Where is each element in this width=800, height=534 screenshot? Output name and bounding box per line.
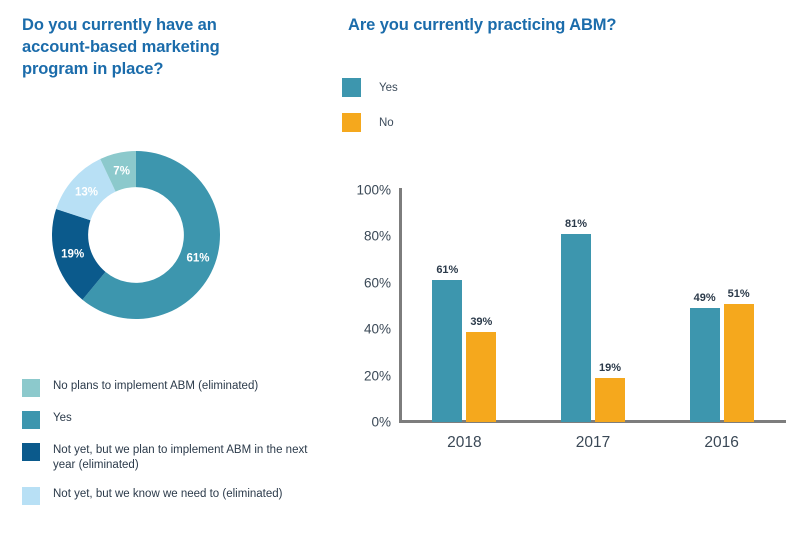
bar-chart-panel: Are you currently practicing ABM? Yes No…: [330, 0, 800, 534]
legend-item-label: Not yet, but we know we need to (elimina…: [53, 486, 282, 502]
legend-item-plan-next-year[interactable]: Not yet, but we plan to implement ABM in…: [22, 442, 322, 473]
y-axis-tick-label: 20%: [364, 368, 391, 383]
donut-chart-svg: 61%19%13%7%: [52, 151, 220, 319]
legend-item-label: No: [379, 117, 394, 129]
bar-value-label: 19%: [599, 362, 621, 374]
bar-value-label: 61%: [436, 264, 458, 276]
legend-item-yes[interactable]: Yes: [342, 78, 398, 97]
bar-value-label: 49%: [694, 292, 716, 304]
bar-yes[interactable]: 49%: [690, 308, 720, 422]
bar-group: 49%51%: [657, 190, 786, 422]
legend-item-label: Yes: [379, 82, 398, 94]
legend-item-label: Not yet, but we plan to implement ABM in…: [53, 442, 322, 473]
legend-swatch-icon: [22, 487, 40, 505]
y-axis-tick-label: 40%: [364, 322, 391, 337]
bar-no[interactable]: 39%: [466, 332, 496, 422]
bar-value-label: 51%: [728, 288, 750, 300]
donut-chart: 61%19%13%7%: [52, 151, 220, 319]
y-axis-tick-label: 60%: [364, 275, 391, 290]
legend-swatch-icon: [22, 411, 40, 429]
bar-group: 61%39%: [400, 190, 529, 422]
legend-swatch-icon: [342, 78, 361, 97]
bar-no[interactable]: 19%: [595, 378, 625, 422]
bar-chart-legend: Yes No: [342, 78, 398, 148]
donut-slice-value: 61%: [187, 252, 210, 264]
donut-chart-panel: Do you currently have an account-based m…: [0, 0, 330, 534]
donut-legend: No plans to implement ABM (eliminated) Y…: [22, 378, 322, 518]
x-axis-tick-label: 2016: [704, 434, 738, 452]
legend-item-no[interactable]: No: [342, 113, 398, 132]
page-title-right: Are you currently practicing ABM?: [348, 14, 728, 36]
y-axis-tick-label: 100%: [356, 183, 391, 198]
bar-chart-plot-area: 0%20%40%60%80%100%61%39%201881%19%201749…: [400, 190, 786, 422]
bar-yes[interactable]: 61%: [432, 280, 462, 422]
legend-swatch-icon: [22, 379, 40, 397]
bar-value-label: 39%: [470, 316, 492, 328]
bar-chart: 0%20%40%60%80%100%61%39%201881%19%201749…: [344, 182, 794, 442]
legend-item-label: Yes: [53, 410, 72, 426]
x-axis-tick-label: 2017: [576, 434, 610, 452]
bar-no[interactable]: 51%: [724, 304, 754, 422]
bar-value-label: 81%: [565, 218, 587, 230]
bar-yes[interactable]: 81%: [561, 234, 591, 422]
legend-swatch-icon: [342, 113, 361, 132]
legend-item-yes[interactable]: Yes: [22, 410, 322, 429]
legend-item-label: No plans to implement ABM (eliminated): [53, 378, 258, 394]
y-axis-tick-label: 80%: [364, 229, 391, 244]
page-title-left: Do you currently have an account-based m…: [22, 14, 272, 80]
y-axis-tick-label: 0%: [371, 415, 391, 430]
donut-slice-value: 7%: [113, 166, 130, 178]
legend-item-know-we-need-to[interactable]: Not yet, but we know we need to (elimina…: [22, 486, 322, 505]
x-axis-tick-label: 2018: [447, 434, 481, 452]
donut-slices: [52, 151, 220, 319]
bar-group: 81%19%: [529, 190, 658, 422]
donut-slice-value: 19%: [61, 248, 84, 260]
legend-item-no-plans[interactable]: No plans to implement ABM (eliminated): [22, 378, 322, 397]
donut-slice-value: 13%: [75, 186, 98, 198]
legend-swatch-icon: [22, 443, 40, 461]
